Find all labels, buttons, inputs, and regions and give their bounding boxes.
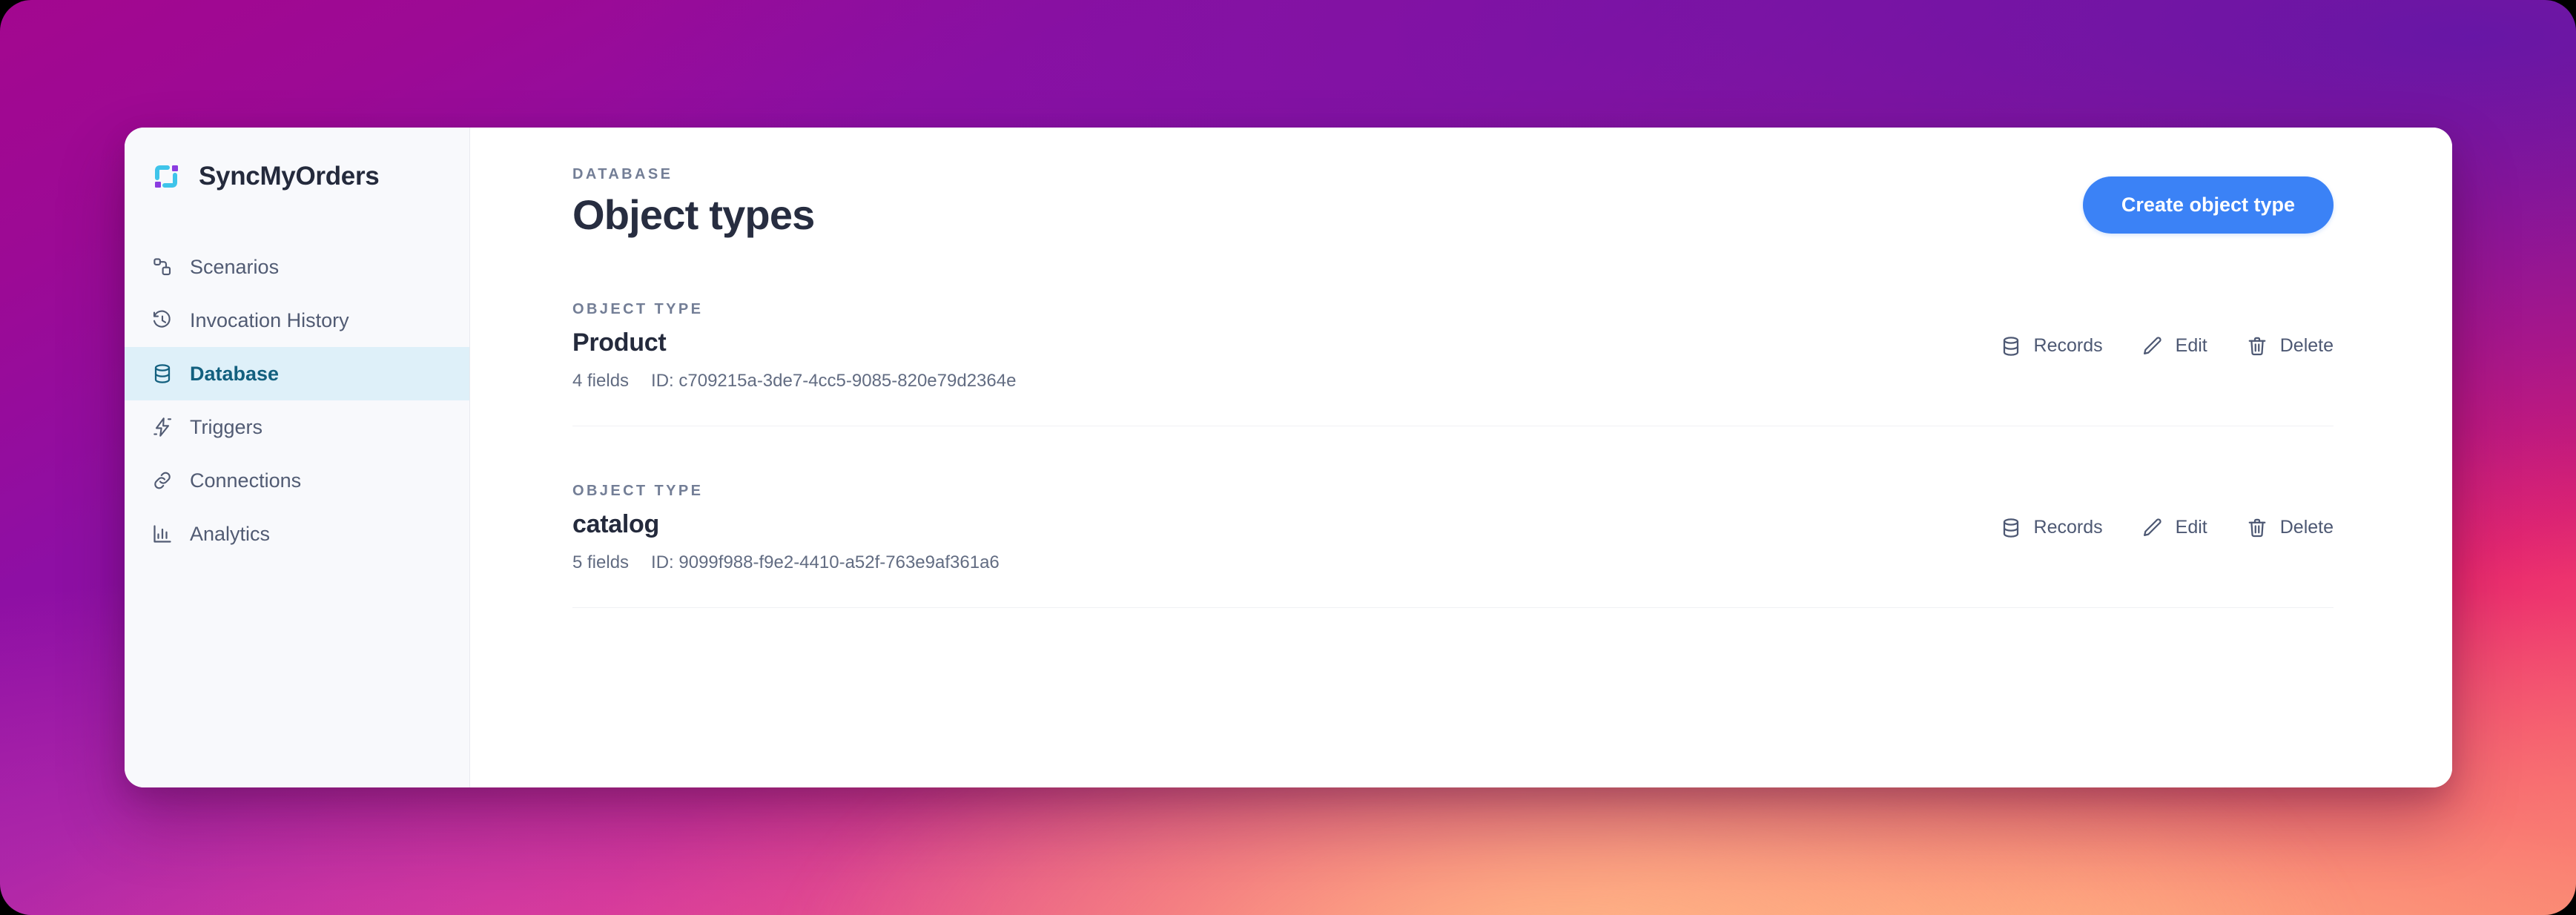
trash-icon [2246,517,2268,539]
delete-button[interactable]: Delete [2246,517,2334,539]
object-type-info: OBJECT TYPE catalog 5 fields ID: 9099f98… [572,483,1000,573]
sidebar-item-scenarios[interactable]: Scenarios [125,240,469,294]
edit-button-label: Edit [2176,335,2207,357]
brand-name: SyncMyOrders [199,162,379,191]
object-type-info: OBJECT TYPE Product 4 fields ID: c709215… [572,301,1016,392]
object-type-meta: 5 fields ID: 9099f988-f9e2-4410-a52f-763… [572,552,1000,573]
history-icon [151,309,174,331]
page-title: Object types [572,194,815,237]
sidebar-item-database[interactable]: Database [125,347,469,400]
sidebar-item-triggers[interactable]: Triggers [125,400,469,454]
page-header: DATABASE Object types Create object type [572,166,2334,237]
object-type-actions: Records Edit [2000,517,2334,539]
bar-chart-icon [151,523,174,545]
link-icon [151,469,174,492]
pencil-icon [2141,517,2164,539]
sidebar-item-label: Database [190,363,279,386]
brand-header[interactable]: SyncMyOrders [125,160,469,193]
sidebar-item-label: Triggers [190,416,262,439]
sidebar-item-label: Invocation History [190,309,349,332]
sidebar-item-label: Analytics [190,523,270,546]
sidebar-nav: Scenarios Invocation History [125,240,469,561]
app-window-card: SyncMyOrders Scenarios [125,128,2452,787]
database-icon [151,363,174,385]
object-type-name: catalog [572,510,1000,539]
records-button[interactable]: Records [2000,335,2103,357]
edit-button[interactable]: Edit [2141,335,2207,357]
lightning-icon [151,416,174,438]
delete-button[interactable]: Delete [2246,335,2334,357]
create-object-type-button[interactable]: Create object type [2083,176,2334,234]
edit-button[interactable]: Edit [2141,517,2207,539]
records-button-label: Records [2034,335,2103,357]
object-type-id: ID: 9099f988-f9e2-4410-a52f-763e9af361a6 [651,552,1000,573]
sidebar-item-connections[interactable]: Connections [125,454,469,507]
trash-icon [2246,335,2268,357]
sidebar-item-analytics[interactable]: Analytics [125,507,469,561]
sidebar-item-label: Connections [190,469,301,492]
object-type-name: Product [572,328,1016,357]
database-icon [2000,517,2022,539]
object-type-field-count: 4 fields [572,371,629,392]
object-type-eyebrow: OBJECT TYPE [572,301,1016,318]
breadcrumb-eyebrow: DATABASE [572,166,815,183]
records-button-label: Records [2034,517,2103,538]
sync-brackets-logo-icon [150,160,182,193]
object-type-meta: 4 fields ID: c709215a-3de7-4cc5-9085-820… [572,371,1016,392]
pencil-icon [2141,335,2164,357]
sidebar-item-invocation-history[interactable]: Invocation History [125,294,469,347]
object-type-id: ID: c709215a-3de7-4cc5-9085-820e79d2364e [651,371,1016,392]
sidebar: SyncMyOrders Scenarios [125,128,470,787]
page-title-group: DATABASE Object types [572,166,815,237]
delete-button-label: Delete [2280,335,2334,357]
nodes-icon [151,256,174,278]
object-type-row: OBJECT TYPE catalog 5 fields ID: 9099f98… [572,483,2334,608]
object-type-actions: Records Edit [2000,335,2334,357]
object-type-field-count: 5 fields [572,552,629,573]
edit-button-label: Edit [2176,517,2207,538]
delete-button-label: Delete [2280,517,2334,538]
main-content: DATABASE Object types Create object type… [470,128,2452,787]
object-type-row: OBJECT TYPE Product 4 fields ID: c709215… [572,301,2334,426]
sidebar-item-label: Scenarios [190,256,279,279]
records-button[interactable]: Records [2000,517,2103,539]
database-icon [2000,335,2022,357]
object-type-eyebrow: OBJECT TYPE [572,483,1000,500]
